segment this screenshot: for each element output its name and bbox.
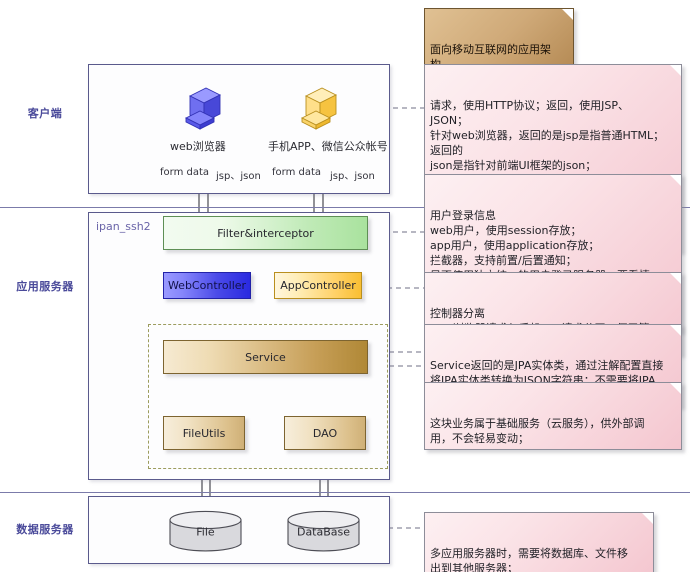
note-fold-icon [642,513,653,524]
note-fold-icon [670,175,681,186]
service-box[interactable]: Service [163,340,368,374]
service-label: Service [245,351,286,364]
diagram-canvas: 客户端 web浏览器 手机APP、微信公众帐号 form data jsp、js… [0,0,690,572]
note-baseservice-text: 这块业务属于基础服务（云服务），供外部调 用，不会轻易变动； [430,417,645,445]
edge-label-jsp-json-web: jsp、json [216,167,261,182]
note-db: 多应用服务器时，需要将数据库、文件移 出到其他服务器； [424,512,654,572]
note-fold-icon [562,9,573,20]
mobile-app-node[interactable] [296,84,340,132]
file-store-label: File [168,526,243,539]
edge-label-jsp-json-app: jsp、json [330,167,375,182]
lane-label-dbserver: 数据服务器 [4,521,86,537]
ipan-group-label: ipan_ssh2 [96,220,151,233]
dao-label: DAO [313,427,337,440]
lane-label-appserver: 应用服务器 [4,278,86,294]
web-browser-node[interactable] [180,84,224,132]
note-db-text: 多应用服务器时，需要将数据库、文件移 出到其他服务器； [430,547,628,572]
web-browser-label: web浏览器 [170,138,226,154]
database-store-label: DataBase [286,526,361,539]
note-fold-icon [670,65,681,76]
note-fold-icon [670,273,681,284]
filter-interceptor-label: Filter&interceptor [217,227,314,240]
fileutils-label: FileUtils [183,427,226,440]
note-fold-icon [670,325,681,336]
edge-label-form-data-web: form data [160,167,209,178]
web-controller-label: WebController [168,279,246,292]
file-store[interactable]: File [168,510,243,554]
note-fold-icon [670,383,681,394]
lane-divider-2 [0,492,690,493]
app-controller-label: AppController [280,279,356,292]
filter-interceptor-box[interactable]: Filter&interceptor [163,216,368,250]
dao-box[interactable]: DAO [284,416,366,450]
web-controller-box[interactable]: WebController [163,272,251,299]
edge-label-form-data-app: form data [272,167,321,178]
mobile-app-label: 手机APP、微信公众帐号 [268,138,388,154]
fileutils-box[interactable]: FileUtils [163,416,245,450]
note-baseservice: 这块业务属于基础服务（云服务），供外部调 用，不会轻易变动； [424,382,682,450]
app-controller-box[interactable]: AppController [274,272,362,299]
database-store[interactable]: DataBase [286,510,361,554]
lane-label-client: 客户端 [8,105,82,121]
